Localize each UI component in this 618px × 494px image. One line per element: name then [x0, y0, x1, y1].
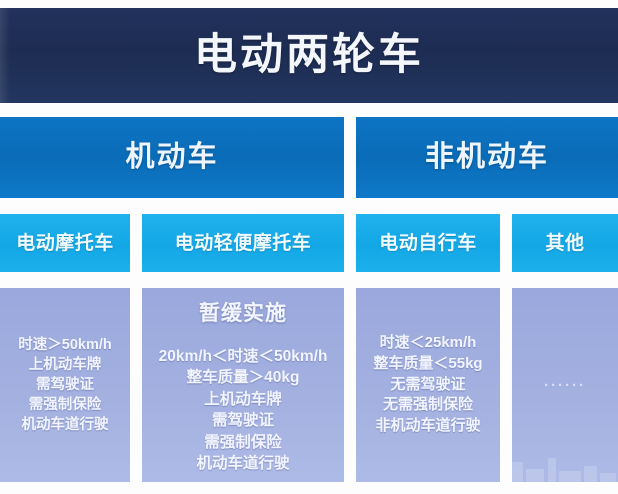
detail-lines-1: 20km/h＜时速＜50km/h 整车质量＞40kg 上机动车牌 需驾驶证 需强… [159, 347, 328, 473]
subcategory-label-0: 电动摩托车 [16, 234, 114, 253]
detail-ellipsis: ······ [544, 377, 586, 394]
detail-line: 整车质量＞40kg [187, 368, 300, 387]
subcategory-box-electric-bicycle: 电动自行车 [356, 214, 500, 272]
detail-heading-suspended: 暂缓实施 [199, 302, 287, 325]
category-row: 机动车 非机动车 [0, 117, 618, 198]
detail-row: 时速＞50km/h 上机动车牌 需驾驶证 需强制保险 机动车道行驶 暂缓实施 2… [0, 288, 618, 482]
detail-line: 20km/h＜时速＜50km/h [159, 347, 328, 366]
detail-panel-electric-moped: 暂缓实施 20km/h＜时速＜50km/h 整车质量＞40kg 上机动车牌 需驾… [142, 288, 344, 482]
detail-panel-other: ······ [512, 288, 618, 482]
infographic-root: 电动两轮车 机动车 非机动车 电动摩托车 电动轻便摩托车 电动自行车 其他 时速… [0, 0, 618, 494]
detail-line: 整车质量＜55kg [373, 355, 482, 374]
detail-line: 时速＞50km/h [18, 336, 111, 354]
detail-panel-electric-motorcycle: 时速＞50km/h 上机动车牌 需驾驶证 需强制保险 机动车道行驶 [0, 288, 130, 482]
detail-lines-0: 时速＞50km/h 上机动车牌 需驾驶证 需强制保险 机动车道行驶 [18, 336, 111, 435]
detail-line: 需驾驶证 [212, 411, 274, 430]
detail-line: 无需驾驶证 [390, 376, 465, 395]
detail-line: 需驾驶证 [36, 376, 94, 394]
detail-line: 上机动车牌 [204, 390, 282, 409]
skyline-watermark [512, 434, 618, 482]
subcategory-label-3: 其他 [545, 234, 584, 253]
detail-line: 需强制保险 [29, 396, 102, 414]
title-banner: 电动两轮车 [0, 8, 618, 103]
detail-line: 无需强制保险 [383, 396, 473, 415]
detail-line: 机动车道行驶 [21, 416, 108, 434]
category-box-non-motor: 非机动车 [356, 117, 618, 198]
subcategory-box-other: 其他 [512, 214, 618, 272]
category-box-motor: 机动车 [0, 117, 344, 198]
detail-line: 机动车道行驶 [196, 454, 289, 473]
detail-line: 上机动车牌 [29, 356, 102, 374]
page-title: 电动两轮车 [194, 34, 424, 77]
detail-line: 需强制保险 [204, 433, 282, 452]
subcategory-label-2: 电动自行车 [379, 234, 477, 253]
detail-line: 非机动车道行驶 [375, 417, 480, 436]
category-label-motor: 机动车 [125, 143, 218, 172]
detail-line: 时速＜25km/h [380, 334, 477, 353]
subcategory-label-1: 电动轻便摩托车 [175, 234, 312, 253]
subcategory-box-electric-moped: 电动轻便摩托车 [142, 214, 344, 272]
category-label-non-motor: 非机动车 [425, 143, 549, 172]
subcategory-box-electric-motorcycle: 电动摩托车 [0, 214, 130, 272]
detail-lines-2: 时速＜25km/h 整车质量＜55kg 无需驾驶证 无需强制保险 非机动车道行驶 [373, 334, 482, 436]
detail-panel-electric-bicycle: 时速＜25km/h 整车质量＜55kg 无需驾驶证 无需强制保险 非机动车道行驶 [356, 288, 500, 482]
subcategory-row: 电动摩托车 电动轻便摩托车 电动自行车 其他 [0, 214, 618, 272]
